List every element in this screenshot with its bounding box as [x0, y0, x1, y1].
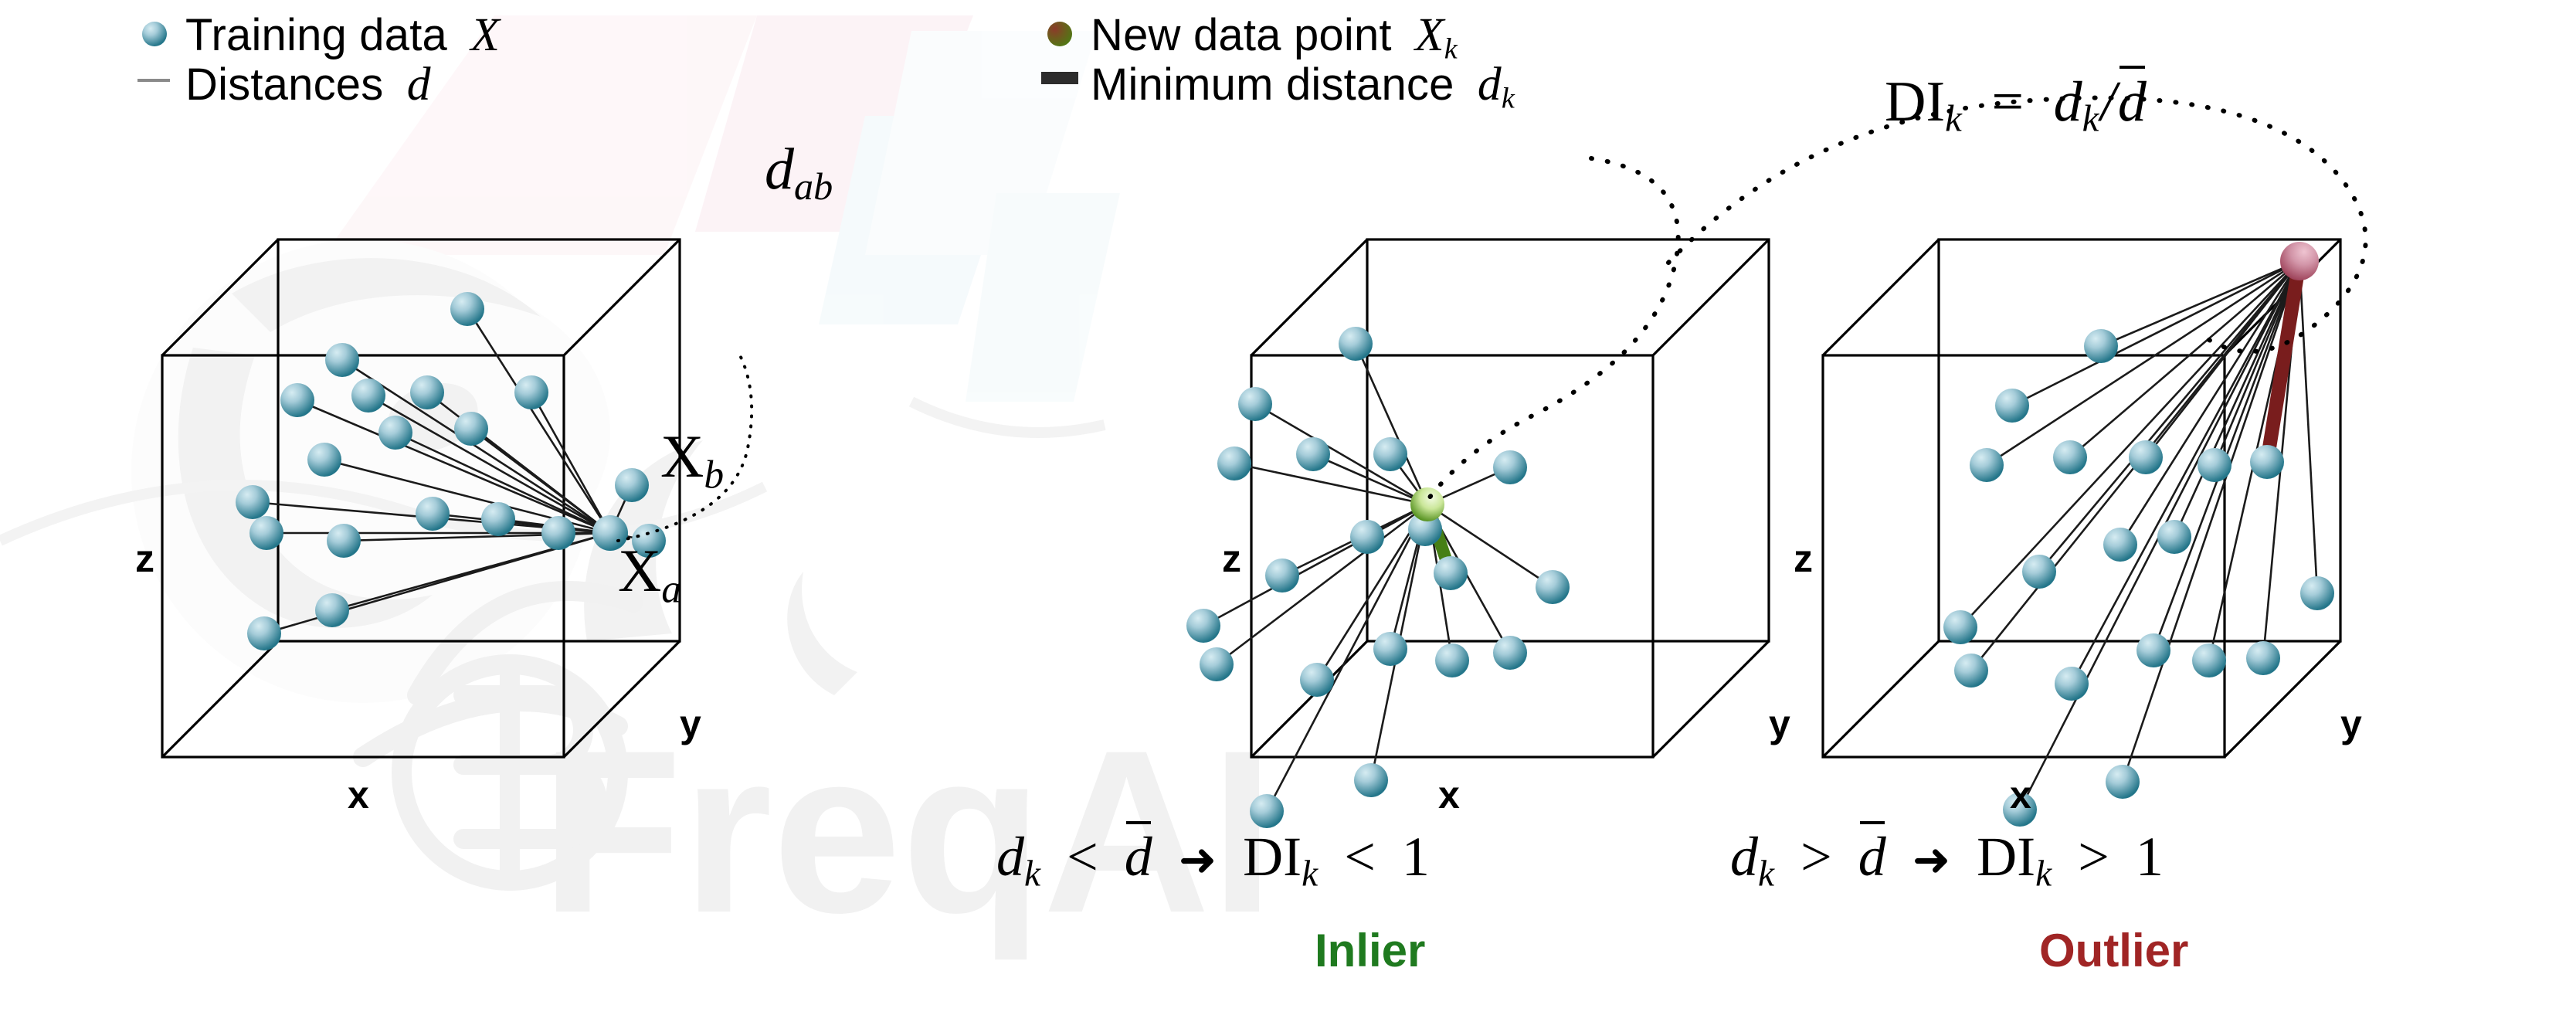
axis-label-z-inlier: z [1222, 536, 1241, 581]
formula-di-top: DIk = dk/d [1885, 68, 2147, 141]
axis-label-y-outlier: y [2340, 701, 2362, 746]
legend-training-symbol: X [470, 8, 500, 61]
axis-label-y-training: y [680, 701, 701, 746]
formula-di-lhs-sub: k [1945, 97, 1962, 140]
formula-di-lhs: DI [1885, 70, 1945, 134]
annotation-dab: dab [765, 135, 833, 209]
formula-di-num-sub: k [2082, 97, 2099, 140]
cap-out-arrow-icon: ➜ [1912, 834, 1950, 885]
label-xa-sub: a [661, 567, 681, 611]
label-xb-symbol: X [660, 423, 704, 490]
legend-item-minimum-distance: Minimum distance dk [1091, 57, 1515, 116]
verdict-inlier: Inlier [1315, 924, 1425, 977]
legend-new-point-dot-icon [1047, 22, 1072, 46]
cap-in-arrow-icon: ➜ [1179, 834, 1217, 885]
axis-label-z-training: z [135, 536, 154, 581]
cap-out-b: d [1858, 825, 1886, 889]
formula-di-num: d [2054, 70, 2082, 134]
formula-di-slash: / [2100, 70, 2116, 134]
legend-distances-symbol: d [407, 58, 431, 110]
cap-in-rel2: < [1344, 826, 1376, 888]
legend-training-text: Training data [185, 10, 447, 60]
axis-label-z-outlier: z [1794, 536, 1813, 581]
cap-out-val: 1 [2136, 826, 2164, 888]
verdict-outlier: Outlier [2039, 924, 2188, 977]
cap-in-rel1: < [1067, 826, 1098, 888]
legend-item-training-data: Training data X [185, 8, 500, 63]
cap-out-a-sub: k [1758, 854, 1774, 894]
cap-in-c-sub: k [1302, 854, 1318, 894]
legend-newpoint-text: New data point [1091, 10, 1392, 60]
legend-mindist-symbol-sub: k [1502, 83, 1515, 115]
cap-in-c: DI [1243, 826, 1302, 888]
axis-label-x-inlier: x [1438, 772, 1460, 817]
legend-distances-text: Distances [185, 59, 383, 110]
caption-equation-inlier: dk < d ➜ DIk < 1 [996, 825, 1430, 895]
legend-item-distances: Distances d [185, 57, 431, 112]
legend-newpoint-symbol: X [1415, 8, 1444, 61]
legend-min-distance-dash-icon [1041, 72, 1078, 84]
label-point-xb: Xb [660, 421, 724, 497]
cap-out-rel1: > [1800, 826, 1832, 888]
axis-label-y-inlier: y [1769, 701, 1790, 746]
label-xb-sub: b [704, 453, 724, 497]
cap-out-c-sub: k [2035, 854, 2052, 894]
cap-in-a-sub: k [1024, 854, 1040, 894]
axis-label-x-outlier: x [2010, 772, 2031, 817]
cap-out-c: DI [1977, 826, 2035, 888]
annotation-dab-sub: ab [794, 165, 833, 208]
caption-equation-outlier: dk > d ➜ DIk > 1 [1730, 825, 2164, 895]
formula-di-op: = [1991, 70, 2024, 134]
axis-label-x-training: x [348, 772, 369, 817]
legend-training-dot-icon [142, 22, 167, 46]
cap-in-b: d [1125, 825, 1152, 889]
label-xa-symbol: X [618, 537, 661, 604]
label-point-xa: Xa [618, 535, 681, 612]
cap-out-rel2: > [2078, 826, 2109, 888]
annotation-dab-symbol: d [765, 137, 794, 202]
cap-in-a: d [996, 826, 1024, 888]
cap-in-val: 1 [1402, 826, 1430, 888]
legend-mindist-text: Minimum distance [1091, 59, 1454, 110]
formula-di-den: d [2118, 70, 2147, 135]
legend-mindist-symbol: d [1478, 58, 1502, 110]
cap-out-a: d [1730, 826, 1758, 888]
legend-distance-dash-icon [137, 79, 170, 82]
diagram-root: FreqAI [0, 0, 2576, 1022]
